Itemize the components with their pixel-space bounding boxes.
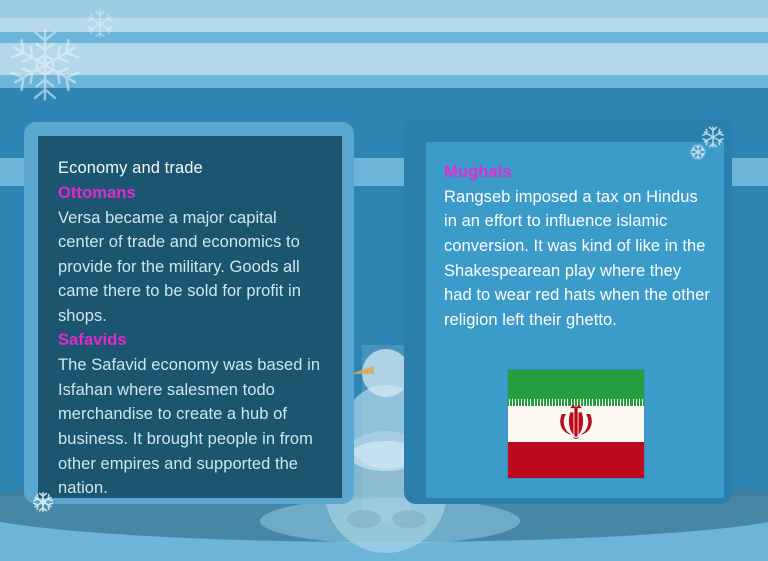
- section-heading-safavids: Safavids: [58, 328, 326, 353]
- snowflake-large-top-left-icon: [4, 24, 86, 106]
- left-panel-body: Economy and trade Ottomans Versa became …: [38, 136, 342, 498]
- section-body-mughals: Rangseb imposed a tax on Hindus in an ef…: [444, 185, 712, 333]
- left-content-panel[interactable]: Economy and trade Ottomans Versa became …: [24, 122, 354, 504]
- section-heading-mughals: Mughals: [444, 160, 712, 185]
- snowman-foot-right: [392, 510, 426, 528]
- background-band: [0, 43, 768, 75]
- section-heading-ottomans: Ottomans: [58, 181, 326, 206]
- section-body-ottomans: Versa became a major capital center of t…: [58, 206, 326, 329]
- flag-emblem-icon: [555, 404, 597, 444]
- snowman-foot-left: [347, 510, 381, 528]
- snowflake-bottom-left-icon: [31, 490, 55, 514]
- page-title: Economy and trade: [58, 156, 326, 181]
- snowflake-right-lower-icon: [689, 143, 707, 161]
- section-body-safavids: The Safavid economy was based in Isfahan…: [58, 353, 326, 501]
- right-content-panel[interactable]: Mughals Rangseb imposed a tax on Hindus …: [404, 120, 732, 504]
- flag-of-iran-image: [508, 370, 644, 478]
- snowflake-small-top-icon: [84, 8, 116, 40]
- right-panel-body: Mughals Rangseb imposed a tax on Hindus …: [426, 142, 724, 498]
- background-band: [0, 75, 768, 88]
- slide-canvas: Economy and trade Ottomans Versa became …: [0, 0, 768, 561]
